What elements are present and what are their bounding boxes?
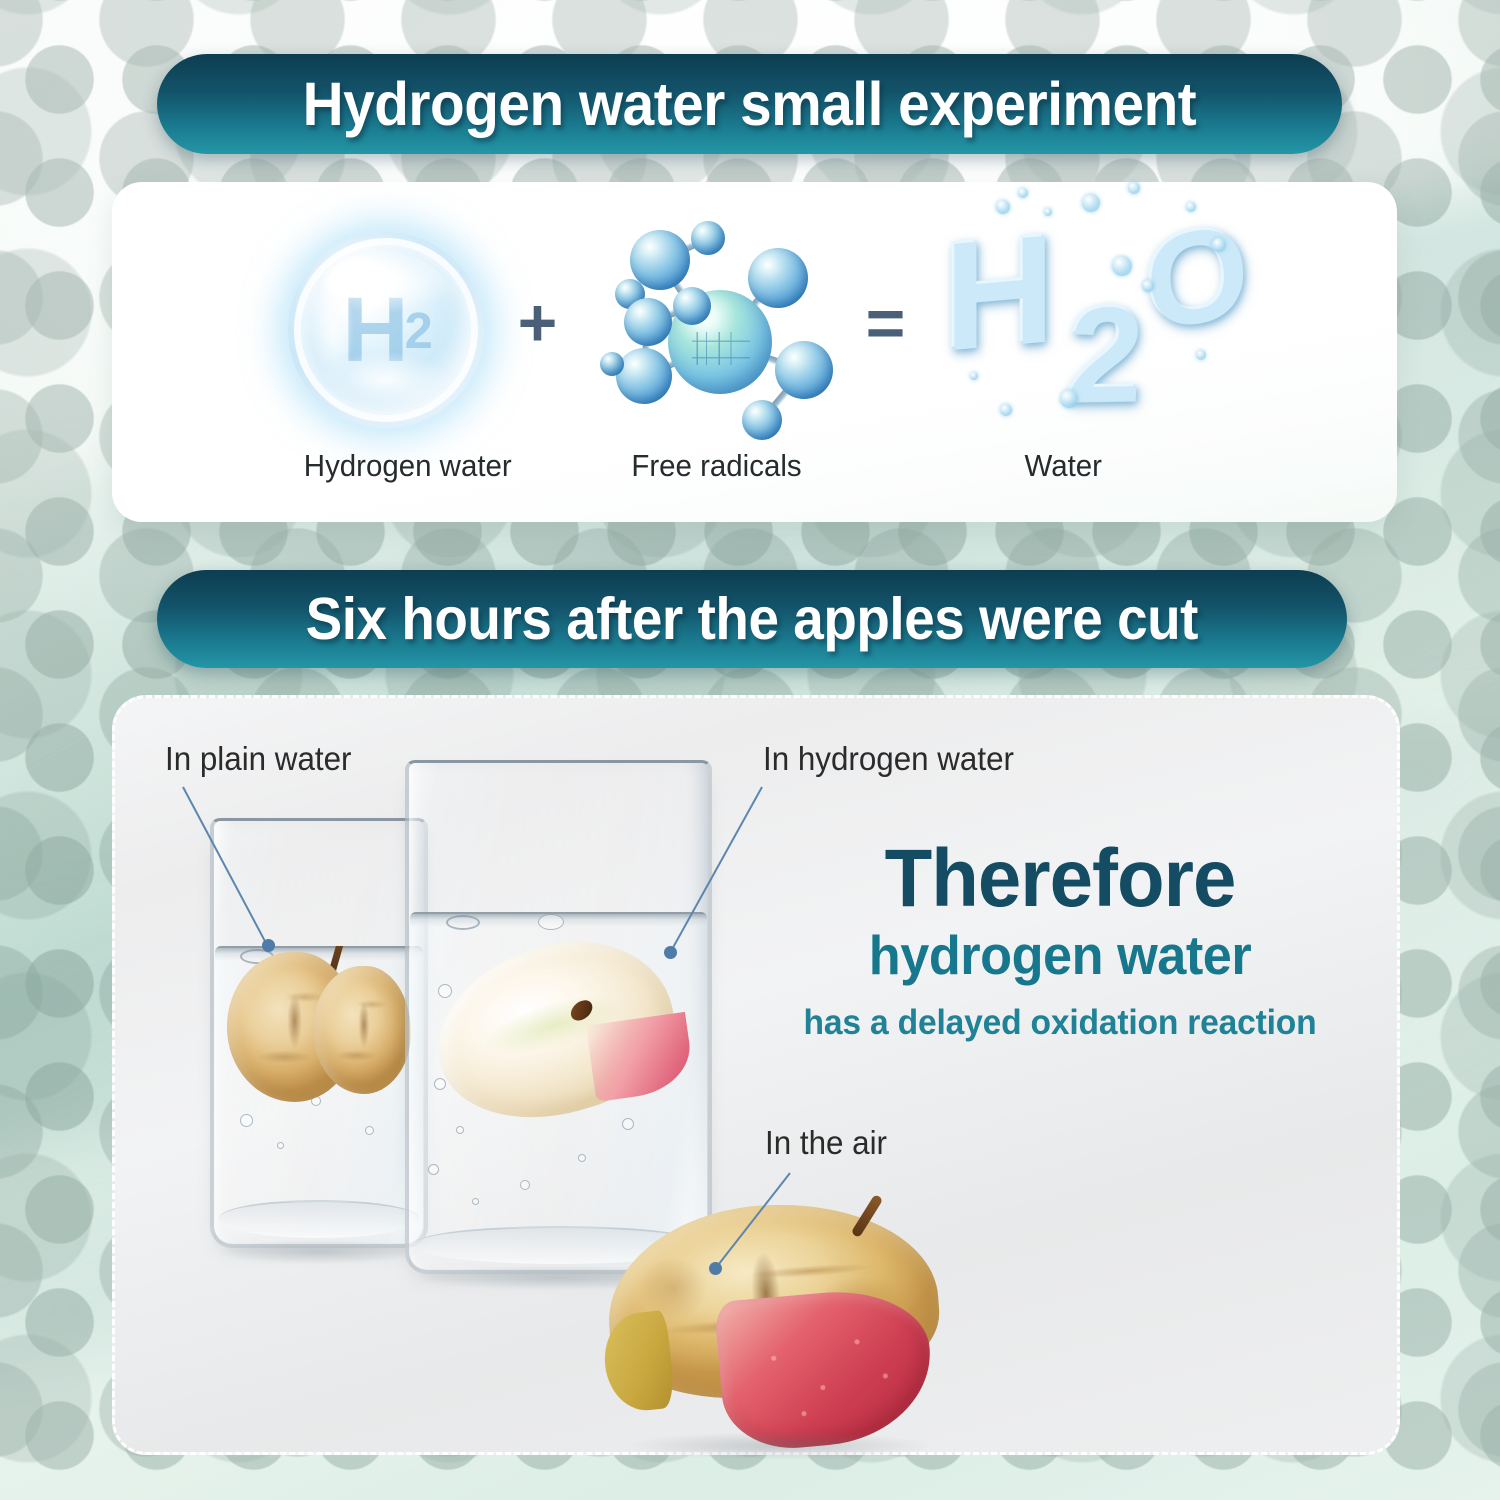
conclusion-line-3: has a delayed oxidation reaction xyxy=(772,1003,1348,1043)
h2o-letter-o: O xyxy=(1140,212,1250,341)
hydrogen-water-bubble-icon: H2 xyxy=(288,221,484,439)
glass-hydrogen-water xyxy=(405,760,712,1274)
caption-hydrogen-water: Hydrogen water xyxy=(242,448,575,484)
equation-item-hydrogen-water: H2 xyxy=(288,221,484,439)
equals-operator: = xyxy=(838,289,934,357)
label-in-the-air: In the air xyxy=(765,1124,887,1162)
label-in-plain-water: In plain water xyxy=(165,740,351,778)
conclusion-line-2: hydrogen water xyxy=(775,924,1345,987)
equation-row: H2 + = H 2 O xyxy=(112,216,1397,444)
title-banner-bottom-text: Six hours after the apples were cut xyxy=(306,585,1198,653)
h2o-ice-text-icon: H 2 O xyxy=(940,221,1222,439)
caption-free-radicals: Free radicals xyxy=(574,448,859,484)
h2o-letter-h: H xyxy=(942,221,1053,362)
conclusion-line-1: Therefore xyxy=(775,838,1345,920)
equation-captions: Hydrogen water Free radicals Water xyxy=(144,448,1365,484)
conclusion-text-block: Therefore hydrogen water has a delayed o… xyxy=(760,838,1360,1043)
title-banner-top-text: Hydrogen water small experiment xyxy=(303,69,1197,139)
apple-fresh-right xyxy=(417,916,692,1143)
equation-item-free-radicals xyxy=(592,221,832,439)
label-in-hydrogen-water: In hydrogen water xyxy=(763,740,1014,778)
title-banner-bottom: Six hours after the apples were cut xyxy=(157,570,1347,668)
caption-water: Water xyxy=(859,448,1268,484)
free-radicals-molecule-icon xyxy=(592,221,832,439)
equation-item-water: H 2 O xyxy=(940,221,1222,439)
glass-plain-water xyxy=(210,818,428,1248)
equation-card: H2 + = H 2 O xyxy=(112,182,1397,522)
plus-operator: + xyxy=(490,289,586,357)
title-banner-top: Hydrogen water small experiment xyxy=(157,54,1342,154)
apple-oxidised-in-air xyxy=(608,1205,938,1450)
